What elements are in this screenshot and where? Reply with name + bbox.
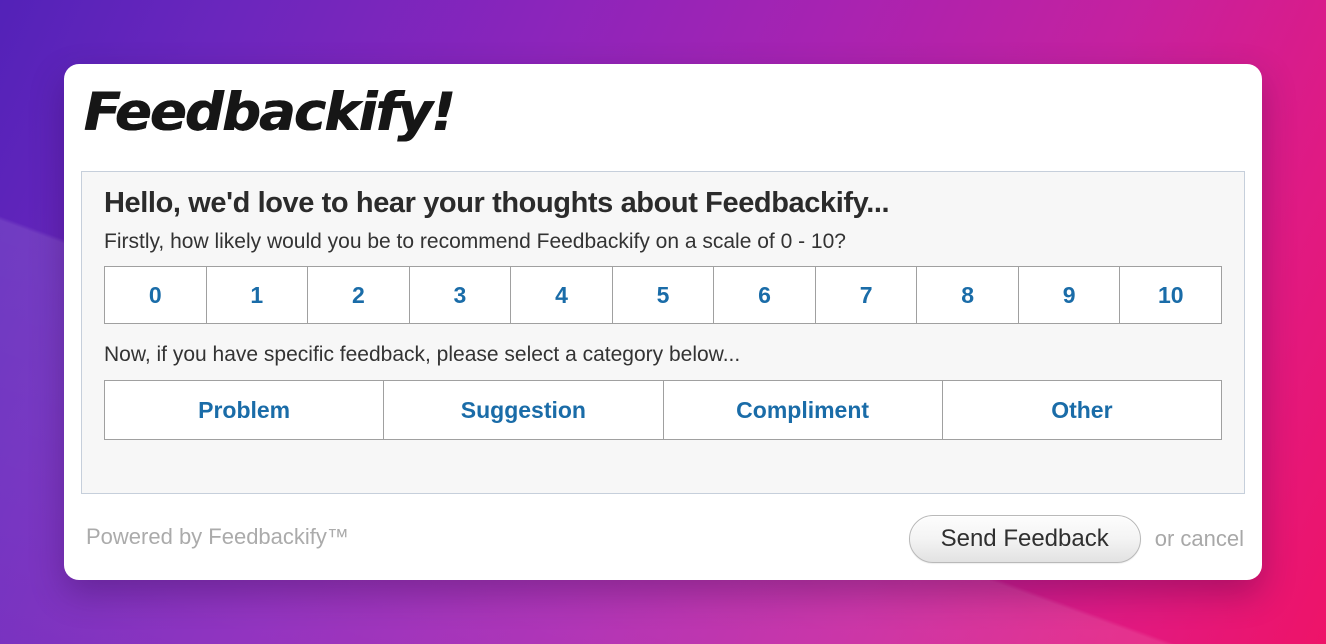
rating-option-3[interactable]: 3 (410, 267, 512, 323)
rating-option-0[interactable]: 0 (105, 267, 207, 323)
feedbackify-logo: Feedbackify! (84, 86, 454, 139)
rating-option-4[interactable]: 4 (511, 267, 613, 323)
rating-option-10[interactable]: 10 (1120, 267, 1221, 323)
widget-footer: Powered by Feedbackify™ Send Feedback or… (64, 494, 1262, 580)
powered-by-label: Powered by Feedbackify™ (86, 526, 349, 548)
feedback-widget-card: Feedbackify! Hello, we'd love to hear yo… (64, 64, 1262, 580)
category-option-compliment[interactable]: Compliment (664, 381, 943, 439)
category-option-other[interactable]: Other (943, 381, 1221, 439)
survey-heading: Hello, we'd love to hear your thoughts a… (104, 186, 1222, 221)
footer-actions: Send Feedback or cancel (909, 515, 1244, 563)
rating-option-6[interactable]: 6 (714, 267, 816, 323)
rating-scale-row: 0 1 2 3 4 5 6 7 8 9 10 (104, 266, 1222, 324)
rating-option-5[interactable]: 5 (613, 267, 715, 323)
rating-prompt: Firstly, how likely would you be to reco… (104, 229, 1222, 255)
rating-option-1[interactable]: 1 (207, 267, 309, 323)
rating-option-7[interactable]: 7 (816, 267, 918, 323)
survey-panel: Hello, we'd love to hear your thoughts a… (81, 171, 1245, 494)
rating-option-9[interactable]: 9 (1019, 267, 1121, 323)
category-option-suggestion[interactable]: Suggestion (384, 381, 663, 439)
send-feedback-button[interactable]: Send Feedback (909, 515, 1141, 563)
category-prompt: Now, if you have specific feedback, plea… (104, 342, 1222, 368)
rating-option-8[interactable]: 8 (917, 267, 1019, 323)
category-row: Problem Suggestion Compliment Other (104, 380, 1222, 440)
cancel-link[interactable]: or cancel (1155, 528, 1244, 550)
category-option-problem[interactable]: Problem (105, 381, 384, 439)
rating-option-2[interactable]: 2 (308, 267, 410, 323)
